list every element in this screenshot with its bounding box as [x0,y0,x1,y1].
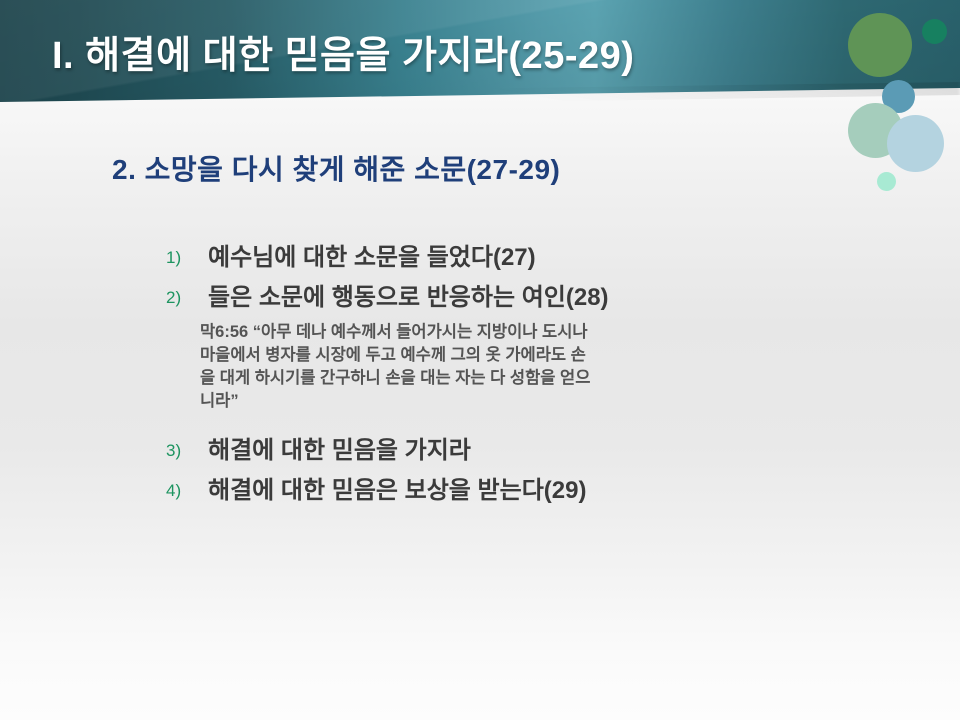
list-item: 2) 들은 소문에 행동으로 반응하는 여인(28) [0,281,960,315]
page-title: I. 해결에 대한 믿음을 가지라(25-29) [52,24,634,79]
scripture-quote: 막6:56 “아무 데나 예수께서 들어가시는 지방이나 도시나 마을에서 병자… [0,321,960,413]
decor-circle-pale-blue [887,115,944,172]
numbered-list: 1) 예수님에 대한 소문을 들었다(27) 2) 들은 소문에 행동으로 반응… [0,241,960,514]
scripture-line: 을 대게 하시기를 간구하니 손을 대는 자는 다 성함을 얻으 [200,367,840,390]
list-item-marker: 4) [166,474,208,508]
list-item: 3) 해결에 대한 믿음을 가지라 [0,434,960,468]
decor-circle-emerald-small [922,19,947,44]
scripture-line: 마을에서 병자를 시장에 두고 예수께 그의 옷 가에라도 손 [200,344,840,367]
section-heading: 2. 소망을 다시 찾게 해준 소문(27-29) [112,148,560,188]
list-item-label: 예수님에 대한 소문을 들었다(27) [208,241,960,275]
decor-circle-green-large [848,13,912,77]
presentation-slide: I. 해결에 대한 믿음을 가지라(25-29) 2. 소망을 다시 찾게 해준… [0,0,960,720]
scripture-line: 니라” [200,390,840,413]
list-item: 1) 예수님에 대한 소문을 들었다(27) [0,241,960,275]
list-item-marker: 1) [166,241,208,275]
list-item-label: 해결에 대한 믿음을 가지라 [208,434,960,468]
list-item-marker: 2) [166,281,208,315]
list-item-marker: 3) [166,434,208,468]
list-spacer [0,423,960,434]
list-item-label: 들은 소문에 행동으로 반응하는 여인(28) [208,281,960,315]
list-item: 4) 해결에 대한 믿음은 보상을 받는다(29) [0,474,960,508]
decor-circle-mint-small [877,172,896,191]
scripture-line: 막6:56 “아무 데나 예수께서 들어가시는 지방이나 도시나 [200,321,840,344]
list-item-label: 해결에 대한 믿음은 보상을 받는다(29) [208,474,960,508]
